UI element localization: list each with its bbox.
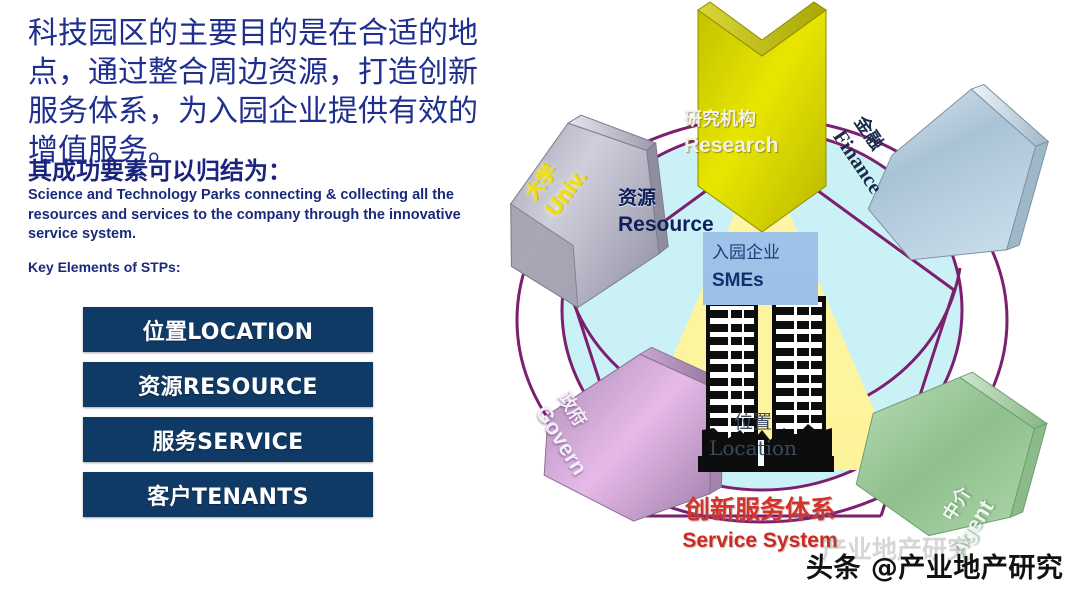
subheading-english: Science and Technology Parks connecting …	[28, 186, 476, 245]
key-elements-list: 位置LOCATION 资源RESOURCE 服务SERVICE 客户TENANT…	[83, 307, 373, 527]
key-element-bar-service[interactable]: 服务SERVICE	[83, 417, 373, 462]
subheading-chinese: 其成功要素可以归结为：	[28, 157, 478, 185]
slide-root: 科技园区的主要目的是在合适的地点，通过整合周边资源，打造创新服务体系，为入园企业…	[0, 0, 1080, 613]
node-research[interactable]	[698, 2, 826, 232]
key-elements-label: Key Elements of STPs:	[28, 258, 428, 276]
key-element-bar-location-label: 位置LOCATION	[143, 314, 314, 346]
center-smes-box[interactable]: 入园企业 SMEs	[703, 232, 818, 305]
watermark-text: 头条 @产业地产研究	[806, 546, 1063, 585]
service-system-label-cn: 创新服务体系	[630, 494, 890, 526]
center-smes-box-cn: 入园企业	[712, 238, 780, 263]
key-element-bar-resource-label: 资源RESOURCE	[138, 369, 318, 401]
key-element-bar-service-label: 服务SERVICE	[153, 424, 304, 456]
left-text-column: 科技园区的主要目的是在合适的地点，通过整合周边资源，打造创新服务体系，为入园企业…	[0, 0, 500, 613]
key-element-bar-resource[interactable]: 资源RESOURCE	[83, 362, 373, 407]
lead-paragraph-chinese: 科技园区的主要目的是在合适的地点，通过整合周边资源，打造创新服务体系，为入园企业…	[28, 14, 478, 170]
key-element-bar-tenants[interactable]: 客户TENANTS	[83, 472, 373, 517]
key-element-bar-tenants-label: 客户TENANTS	[147, 479, 308, 511]
key-element-bar-location[interactable]: 位置LOCATION	[83, 307, 373, 352]
stp-ecosystem-diagram: 研究机构 Research 大学 Univ. 金融 Finance 政府 Gov…	[470, 0, 1080, 613]
center-smes-box-en: SMEs	[712, 270, 764, 292]
